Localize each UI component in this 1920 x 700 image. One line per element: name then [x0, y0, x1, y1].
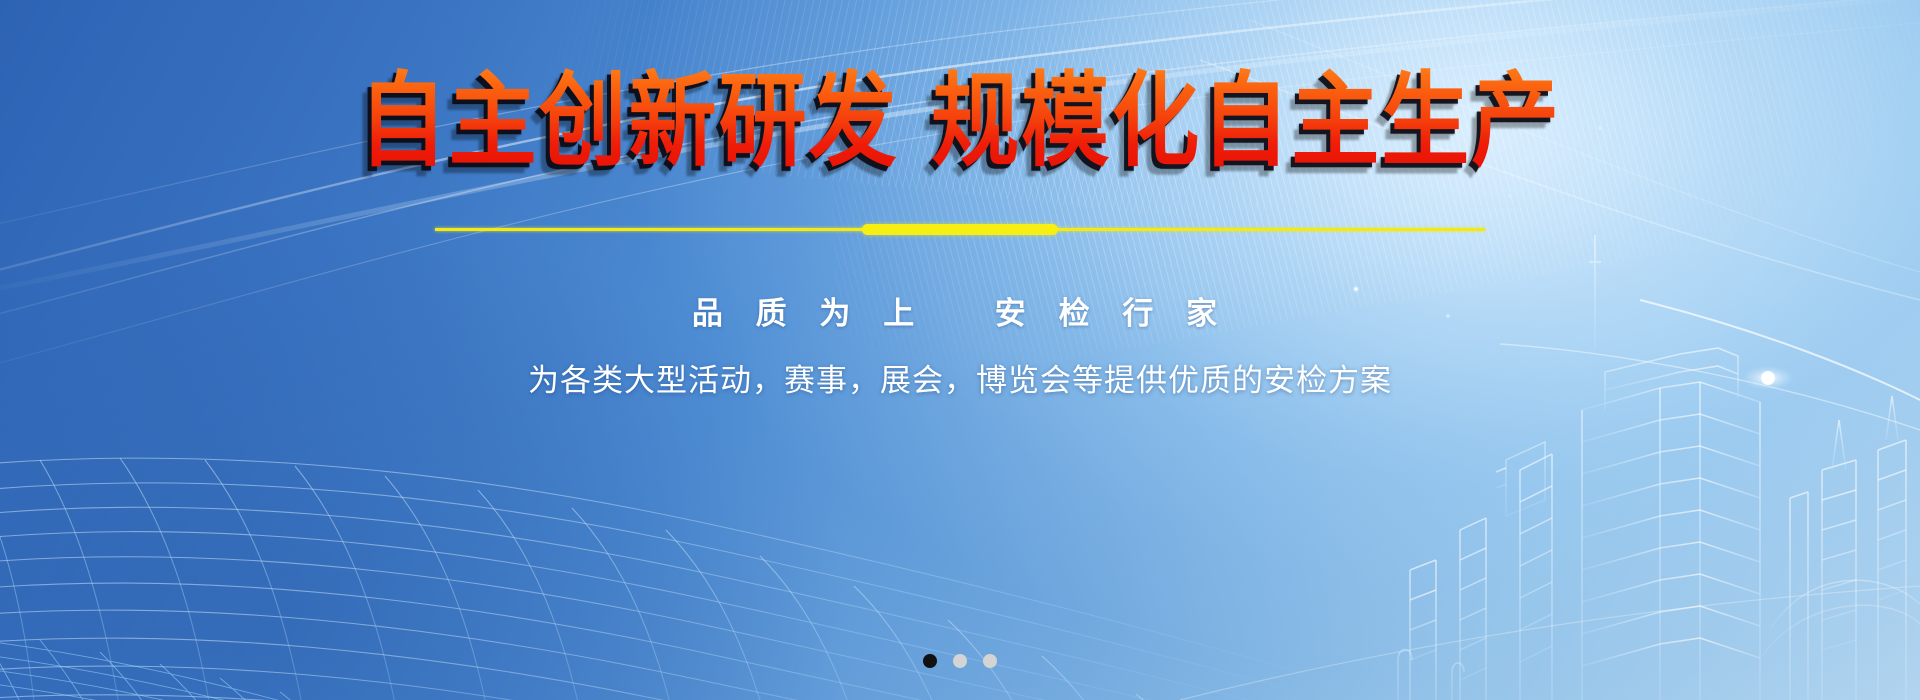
carousel-dot-2[interactable] [953, 654, 967, 668]
carousel-dot-3[interactable] [983, 654, 997, 668]
hero-banner-slide[interactable]: 自主创新研发 规模化自主生产 品 质 为 上 安 检 行 家 为各类大型活动，赛… [0, 0, 1920, 700]
page-title: 自主创新研发 规模化自主生产 [359, 68, 1562, 175]
divider-center-nub [862, 224, 1058, 235]
subtitle: 为各类大型活动，赛事，展会，博览会等提供优质的安检方案 [528, 355, 1392, 400]
tagline: 品 质 为 上 安 检 行 家 [692, 288, 1228, 333]
tagline-right: 安 检 行 家 [995, 296, 1228, 332]
banner-content: 自主创新研发 规模化自主生产 品 质 为 上 安 检 行 家 为各类大型活动，赛… [0, 0, 1920, 700]
carousel-indicators[interactable] [0, 654, 1920, 668]
carousel-dot-1[interactable] [923, 654, 937, 668]
tagline-left: 品 质 为 上 [692, 296, 925, 332]
divider [435, 222, 1485, 236]
